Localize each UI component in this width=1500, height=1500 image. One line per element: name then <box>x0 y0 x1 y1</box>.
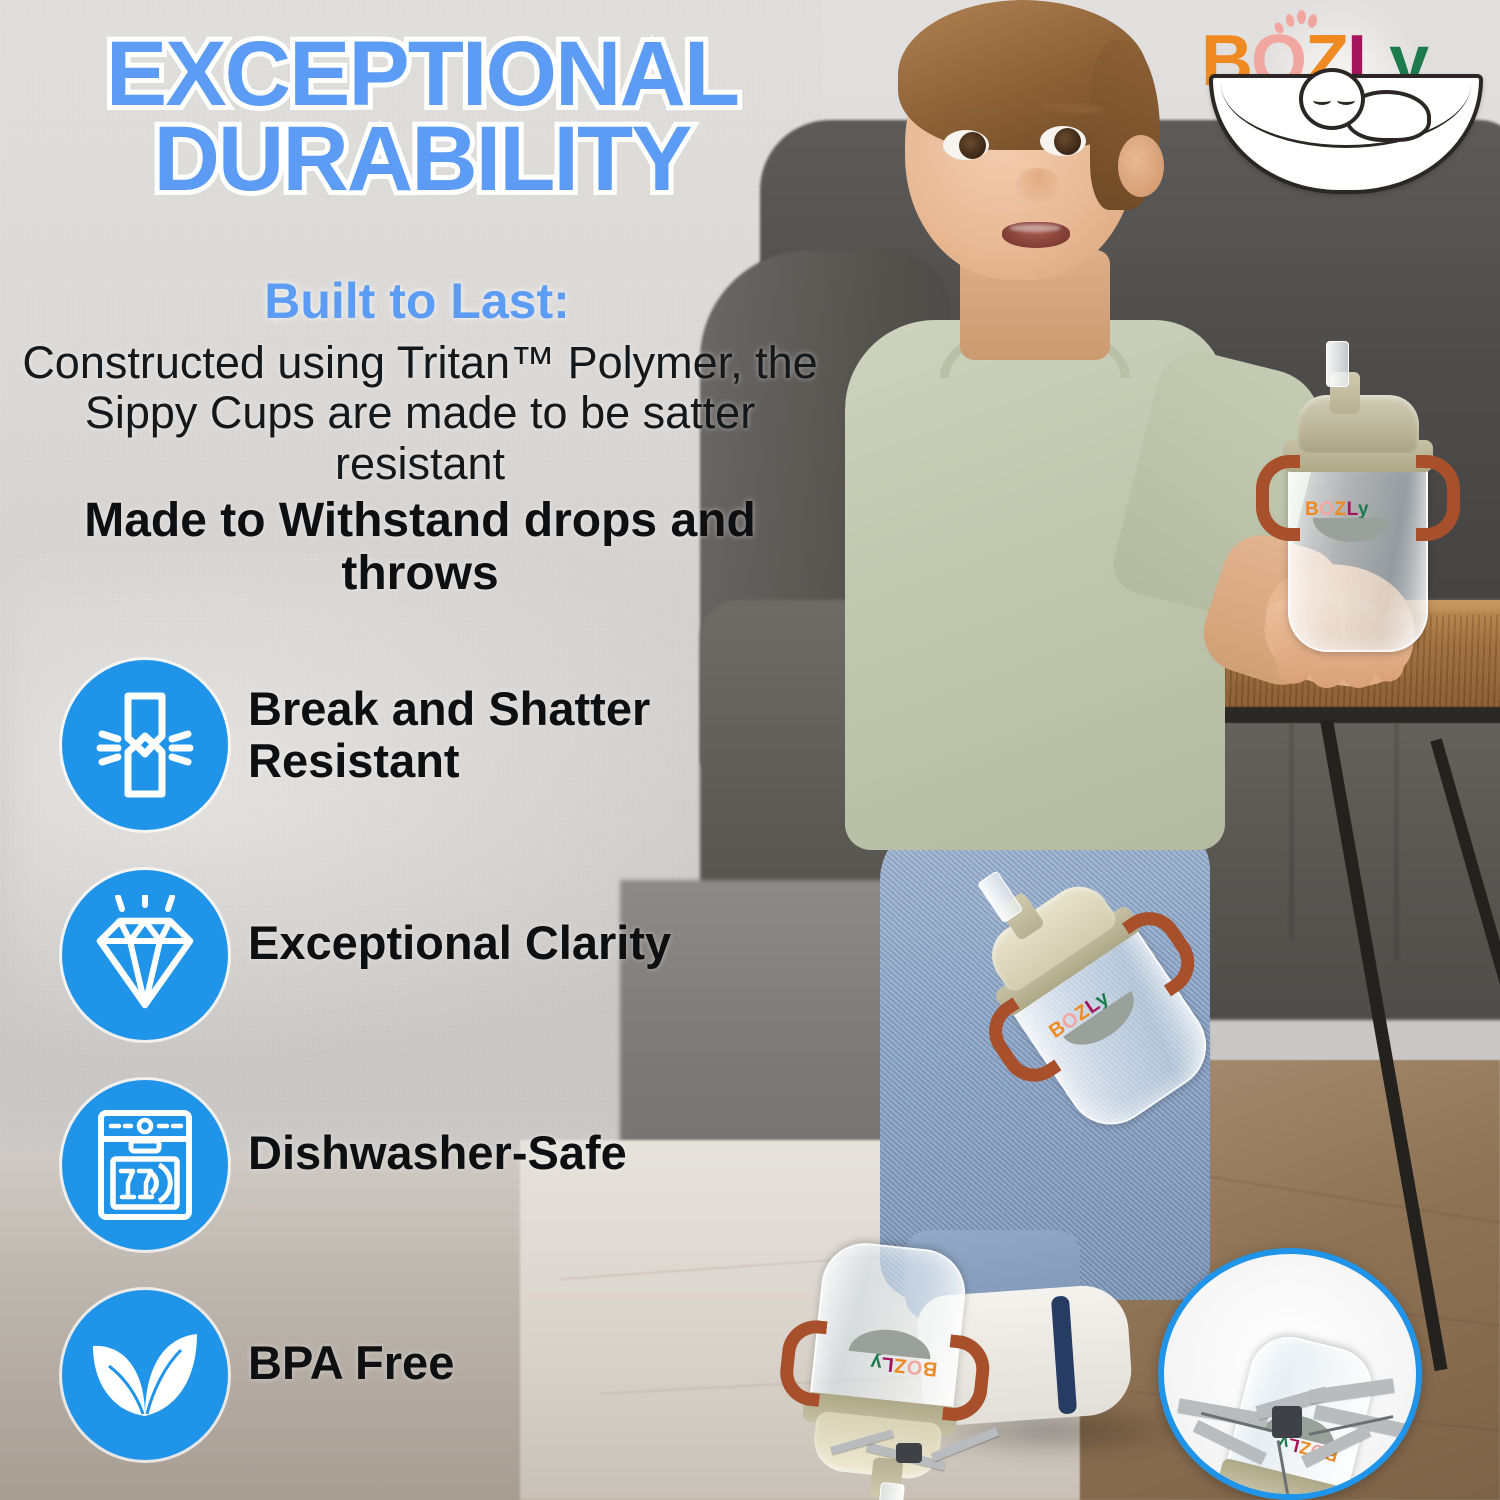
impact-detail-inset: BOZLy <box>1158 1248 1422 1500</box>
cup-straw <box>876 1482 905 1500</box>
feature-item: BPA Free <box>0 1285 830 1495</box>
cup-decal-hammock <box>1313 518 1391 542</box>
body-emphasis: Made to Withstand drops and throws <box>20 495 820 601</box>
impact-hole <box>1272 1406 1302 1438</box>
dishwasher-icon <box>62 1080 228 1250</box>
child-eye <box>943 130 989 160</box>
child-lip-highlight <box>1009 224 1061 232</box>
child-eye <box>1040 126 1086 156</box>
child-iris <box>959 132 986 159</box>
table-metal-rim <box>1190 707 1500 723</box>
feature-label: Dishwasher-Safe <box>248 1127 627 1179</box>
diamond-icon <box>62 870 228 1040</box>
page-title: EXCEPTIONAL DURABILITY <box>22 32 822 201</box>
cup-body <box>1288 452 1428 652</box>
feature-list: Break and Shatter Resistant Exceptional … <box>0 655 830 1495</box>
child-iris <box>1054 128 1081 155</box>
floor-impact-hole <box>896 1443 922 1463</box>
feature-item: Exceptional Clarity <box>0 865 830 1075</box>
feature-label: BPA Free <box>248 1337 454 1389</box>
feature-item: Dishwasher-Safe <box>0 1075 830 1285</box>
footprint-icon <box>1273 8 1319 48</box>
feature-label: Break and Shatter Resistant <box>248 683 650 786</box>
cracked-bottle-icon <box>62 660 228 830</box>
sofa-seam <box>1395 700 1398 960</box>
cup-straw <box>1326 341 1349 387</box>
headline-line-2: DURABILITY <box>22 117 822 202</box>
feature-label-line1: Break and Shatter <box>248 682 650 735</box>
baby-head <box>1299 68 1365 130</box>
ad-canvas: BOZLy BOZLy <box>0 0 1500 1500</box>
baby-eye <box>1313 96 1331 105</box>
leaf-icon <box>62 1290 228 1460</box>
body-paragraph: Constructed using Tritan™ Polymer, the S… <box>20 338 820 489</box>
subheading: Built to Last: <box>22 272 812 330</box>
feature-label-line2: Resistant <box>248 734 460 787</box>
baby-eye <box>1337 96 1355 105</box>
child-ear <box>1118 135 1164 197</box>
brand-logo: BOZLy <box>1195 12 1495 197</box>
feature-item: Break and Shatter Resistant <box>0 655 830 865</box>
feature-label: Exceptional Clarity <box>248 917 671 969</box>
cup-decal: BOZLy <box>1305 500 1405 544</box>
child-nose <box>1016 168 1060 202</box>
cup-handle-left <box>1256 455 1300 541</box>
